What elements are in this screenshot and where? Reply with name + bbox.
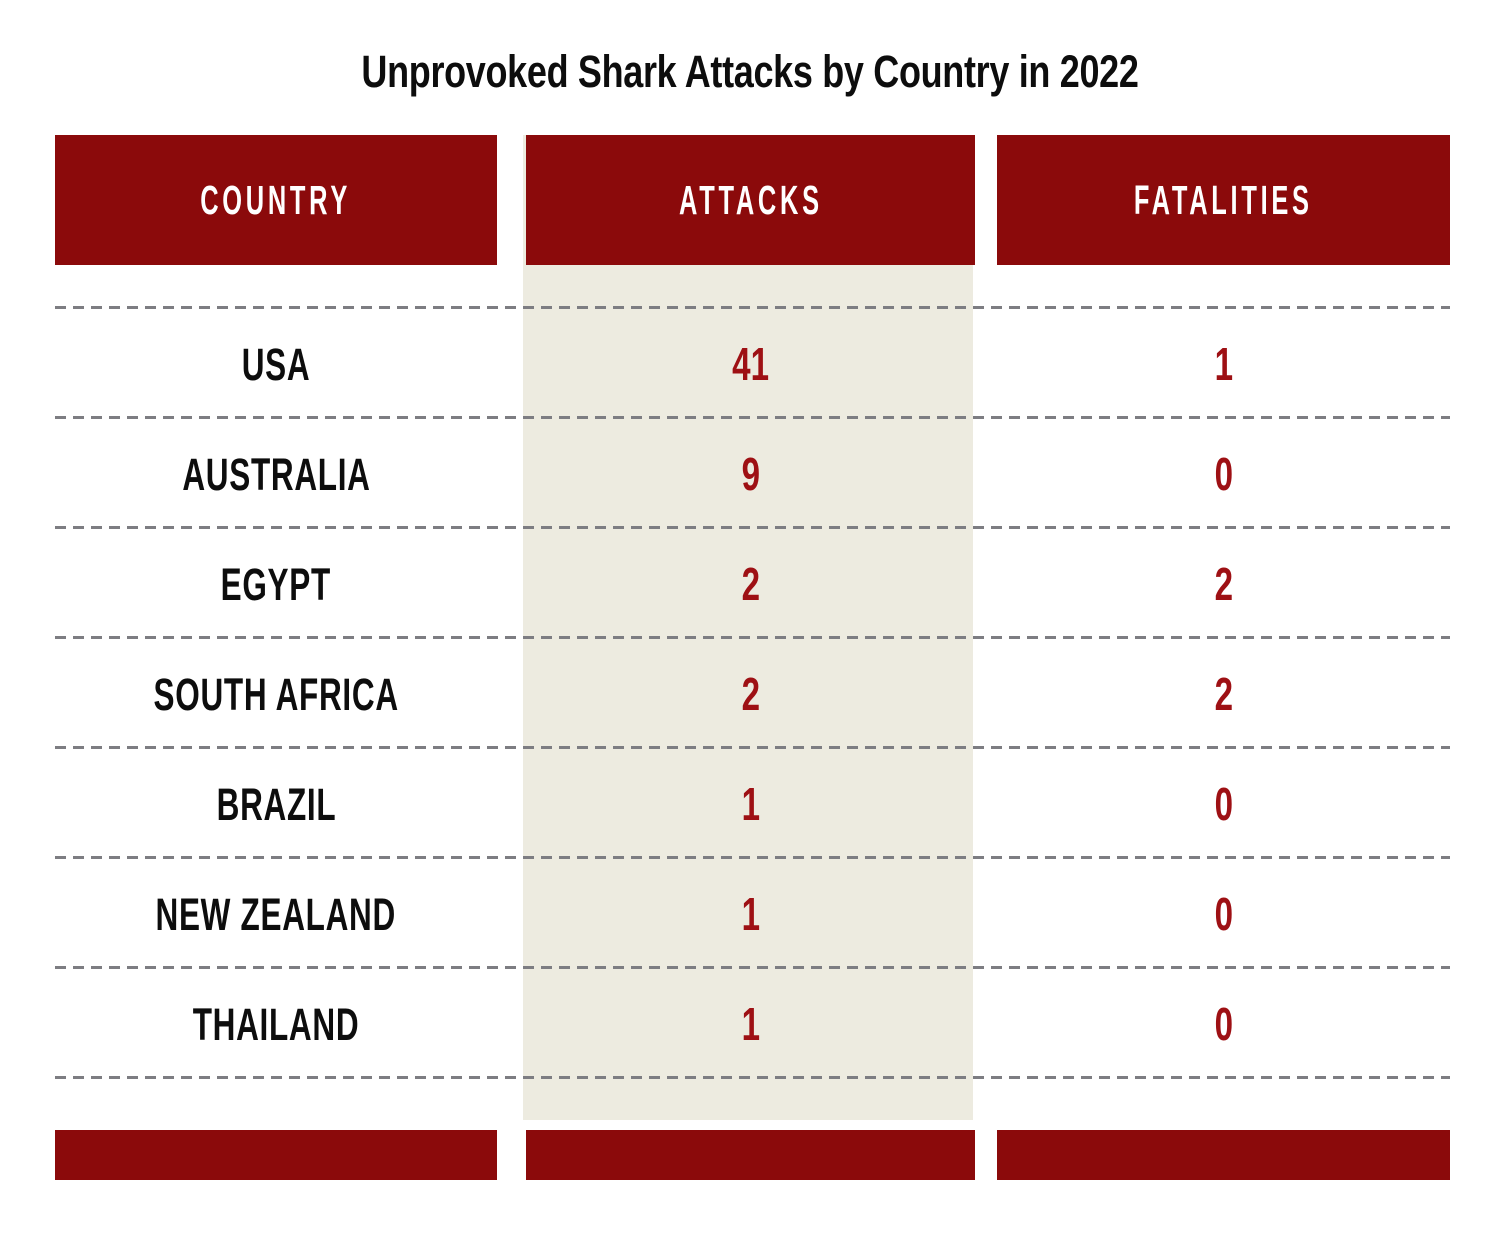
- fatalities-value: 2: [1214, 561, 1232, 607]
- attacks-value: 41: [732, 341, 769, 387]
- fatalities-value: 0: [1214, 451, 1232, 497]
- row-separator: [55, 966, 1450, 969]
- attacks-value: 9: [741, 451, 759, 497]
- cell-country: BRAZIL: [55, 749, 497, 859]
- cell-fatalities: 1: [997, 309, 1450, 419]
- cell-country: NEW ZEALAND: [55, 859, 497, 969]
- header-cell-country: COUNTRY: [55, 135, 497, 265]
- cell-country: EGYPT: [55, 529, 497, 639]
- attacks-value: 2: [741, 671, 759, 717]
- fatalities-value: 0: [1214, 1001, 1232, 1047]
- table-header-row: COUNTRY ATTACKS FATALITIES: [55, 135, 1450, 265]
- cell-attacks: 1: [526, 969, 975, 1079]
- attacks-value: 1: [741, 1001, 759, 1047]
- country-label: NEW ZEALAND: [156, 892, 396, 937]
- footer-bar-country: [55, 1130, 497, 1180]
- country-label: AUSTRALIA: [182, 452, 370, 497]
- row-separator: [55, 856, 1450, 859]
- cell-attacks: 2: [526, 639, 975, 749]
- row-separator: [55, 1076, 1450, 1079]
- header-cell-attacks: ATTACKS: [526, 135, 975, 265]
- table-row: USA 41 1: [55, 309, 1450, 419]
- cell-attacks: 1: [526, 859, 975, 969]
- cell-fatalities: 0: [997, 859, 1450, 969]
- cell-fatalities: 2: [997, 529, 1450, 639]
- cell-country: THAILAND: [55, 969, 497, 1079]
- row-separator: [55, 636, 1450, 639]
- country-label: USA: [242, 342, 311, 387]
- fatalities-value: 0: [1214, 891, 1232, 937]
- cell-country: AUSTRALIA: [55, 419, 497, 529]
- header-cell-fatalities: FATALITIES: [997, 135, 1450, 265]
- attacks-value: 1: [741, 891, 759, 937]
- country-label: EGYPT: [221, 562, 331, 607]
- cell-fatalities: 0: [997, 419, 1450, 529]
- fatalities-value: 2: [1214, 671, 1232, 717]
- fatalities-value: 1: [1214, 341, 1232, 387]
- header-label-attacks: ATTACKS: [679, 180, 823, 221]
- table-row: NEW ZEALAND 1 0: [55, 859, 1450, 969]
- row-separator: [55, 526, 1450, 529]
- table-footer-row: [55, 1130, 1450, 1180]
- cell-attacks: 9: [526, 419, 975, 529]
- shark-attacks-table: COUNTRY ATTACKS FATALITIES USA 41: [55, 135, 1450, 1180]
- footer-bar-fatalities: [997, 1130, 1450, 1180]
- cell-country: SOUTH AFRICA: [55, 639, 497, 749]
- attacks-value: 2: [741, 561, 759, 607]
- country-label: BRAZIL: [216, 782, 336, 827]
- cell-attacks: 2: [526, 529, 975, 639]
- country-label: SOUTH AFRICA: [153, 672, 398, 717]
- row-separator: [55, 416, 1450, 419]
- cell-fatalities: 0: [997, 969, 1450, 1079]
- infographic-page: Unprovoked Shark Attacks by Country in 2…: [0, 0, 1500, 1259]
- country-label: THAILAND: [193, 1002, 360, 1047]
- cell-fatalities: 2: [997, 639, 1450, 749]
- table-row: AUSTRALIA 9 0: [55, 419, 1450, 529]
- cell-fatalities: 0: [997, 749, 1450, 859]
- cell-country: USA: [55, 309, 497, 419]
- row-separator: [55, 746, 1450, 749]
- table-row: BRAZIL 1 0: [55, 749, 1450, 859]
- table-row: THAILAND 1 0: [55, 969, 1450, 1079]
- table-row: EGYPT 2 2: [55, 529, 1450, 639]
- fatalities-value: 0: [1214, 781, 1232, 827]
- cell-attacks: 1: [526, 749, 975, 859]
- table-row: SOUTH AFRICA 2 2: [55, 639, 1450, 749]
- header-label-fatalities: FATALITIES: [1134, 180, 1313, 221]
- header-label-country: COUNTRY: [201, 180, 352, 221]
- cell-attacks: 41: [526, 309, 975, 419]
- attacks-value: 1: [741, 781, 759, 827]
- page-title: Unprovoked Shark Attacks by Country in 2…: [150, 46, 1350, 98]
- footer-bar-attacks: [526, 1130, 975, 1180]
- row-separator: [55, 306, 1450, 309]
